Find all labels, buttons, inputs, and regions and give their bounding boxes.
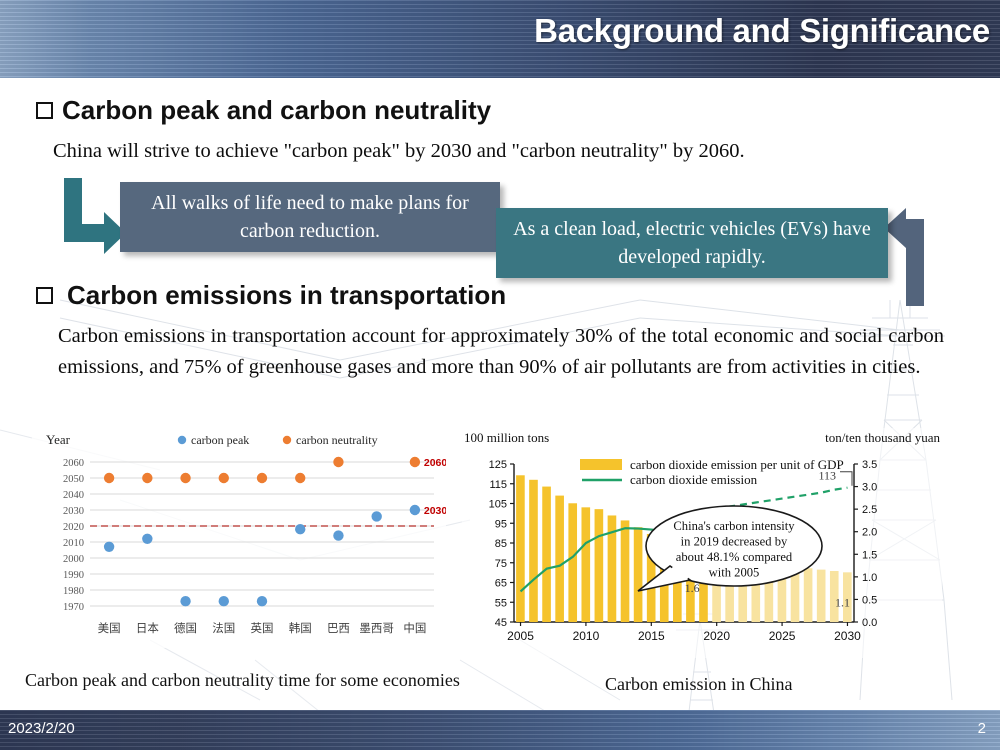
y-tick-label-left: 75 <box>495 558 507 570</box>
down-right-arrow-icon <box>58 178 128 256</box>
x-tick-label: 2020 <box>703 629 730 643</box>
y-tick-label-right: 2.5 <box>862 504 877 516</box>
slide-header: Background and Significance <box>0 0 1000 78</box>
data-point <box>219 596 229 606</box>
section-heading-transportation: Carbon emissions in transportation <box>36 280 506 311</box>
x-tick-label: 2010 <box>573 629 600 643</box>
slide-content: Carbon peak and carbon neutrality China … <box>0 78 1000 710</box>
chart-china-carbon-emission: 100 million tonston/ten thousand yuan455… <box>462 428 942 658</box>
section-heading-label: Carbon peak and carbon neutrality <box>62 95 491 126</box>
callout-line: China's carbon intensity <box>673 519 795 533</box>
data-point <box>219 473 229 483</box>
legend-marker <box>178 436 186 444</box>
page-title: Background and Significance <box>534 12 990 50</box>
y-tick-label: 1980 <box>63 586 84 597</box>
callout-line: with 2005 <box>709 566 760 580</box>
annotation-1-1: 1.1 <box>835 595 850 609</box>
y-tick-label: 2050 <box>63 474 84 485</box>
chart-carbon-peak-neutrality: 1970198019902000201020202030204020502060… <box>32 428 446 648</box>
y-tick-label-right: 3.5 <box>862 459 877 471</box>
square-bullet-icon <box>36 102 53 119</box>
y-tick-label-right: 0.5 <box>862 594 877 606</box>
legend-label: carbon neutrality <box>296 433 378 447</box>
y-tick-label-left: 55 <box>495 597 507 609</box>
callout-right: As a clean load, electric vehicles (EVs)… <box>496 208 888 278</box>
callout-right-text: As a clean load, electric vehicles (EVs)… <box>510 215 874 271</box>
annotation-113: 113 <box>818 469 836 483</box>
y-tick-label-right: 1.0 <box>862 572 877 584</box>
legend-marker <box>283 436 291 444</box>
x-tick-label: 中国 <box>403 622 426 635</box>
section-heading-carbon-peak: Carbon peak and carbon neutrality <box>36 95 491 126</box>
y-tick-label-left: 45 <box>495 617 507 629</box>
x-tick-label: 墨西哥 <box>359 622 394 635</box>
callout-line: in 2019 decreased by <box>681 535 788 549</box>
data-point <box>371 511 381 521</box>
section-paragraph-carbon-peak: China will strive to achieve "carbon pea… <box>53 137 973 166</box>
y-tick-label: 2040 <box>63 490 84 501</box>
data-point <box>142 473 152 483</box>
slide-footer: 2023/2/20 2 <box>0 710 1000 750</box>
x-tick-label: 美国 <box>98 621 121 635</box>
caption-left-chart: Carbon peak and carbon neutrality time f… <box>25 670 460 691</box>
x-tick-label: 2025 <box>769 629 796 643</box>
data-point <box>295 524 305 534</box>
bar-actual <box>555 496 564 622</box>
data-annotation: 2060 <box>424 457 446 469</box>
y-tick-label: 2000 <box>63 554 84 565</box>
y-tick-label: 2020 <box>63 522 84 533</box>
data-point <box>104 542 114 552</box>
data-point <box>333 530 343 540</box>
y-tick-label: 2060 <box>63 458 84 469</box>
y-tick-label-right: 2.0 <box>862 527 877 539</box>
y-tick-label: 1970 <box>63 602 84 613</box>
x-tick-label: 2005 <box>507 629 534 643</box>
y-tick-label-right: 0.0 <box>862 617 877 629</box>
data-annotation: 2030 <box>424 505 446 517</box>
x-tick-label: 2015 <box>638 629 665 643</box>
bar-actual <box>516 475 525 622</box>
bar-actual <box>568 503 577 622</box>
bar-actual <box>529 480 538 622</box>
footer-page-number: 2 <box>978 720 986 737</box>
x-tick-label: 2030 <box>834 629 861 643</box>
bar-actual <box>595 509 604 622</box>
data-point <box>257 473 267 483</box>
caption-right-chart: Carbon emission in China <box>605 674 793 695</box>
section-paragraph-transportation: Carbon emissions in transportation accou… <box>58 321 944 383</box>
annotation-bracket <box>840 472 852 486</box>
bar-actual <box>542 487 551 622</box>
square-bullet-icon <box>36 287 53 304</box>
data-point <box>410 505 420 515</box>
legend-swatch-bar <box>580 459 622 470</box>
x-tick-label: 韩国 <box>289 621 312 635</box>
legend-label-line: carbon dioxide emission <box>630 472 758 487</box>
x-tick-label: 德国 <box>174 621 197 635</box>
y-tick-label: 2030 <box>63 506 84 517</box>
legend-label: carbon peak <box>191 433 249 447</box>
y-tick-label-right: 3.0 <box>862 482 877 494</box>
callout-left-text: All walks of life need to make plans for… <box>134 189 486 245</box>
right-axis-unit-label: ton/ten thousand yuan <box>825 430 940 445</box>
legend-label-bar: carbon dioxide emission per unit of GDP <box>630 457 844 472</box>
up-left-arrow-icon <box>884 208 946 308</box>
y-tick-label-left: 85 <box>495 538 507 550</box>
y-tick-label-left: 125 <box>489 459 507 471</box>
data-point <box>333 457 343 467</box>
bar-projected <box>804 568 813 622</box>
data-point <box>410 457 420 467</box>
callout-left: All walks of life need to make plans for… <box>120 182 500 252</box>
x-tick-label: 日本 <box>136 621 159 635</box>
data-point <box>295 473 305 483</box>
y-tick-label-left: 105 <box>489 499 507 511</box>
bar-projected <box>817 570 826 622</box>
bar-actual <box>621 520 630 622</box>
footer-texture <box>0 710 1000 750</box>
data-point <box>180 473 190 483</box>
y-tick-label: 2010 <box>63 538 84 549</box>
data-point <box>257 596 267 606</box>
callout-line: about 48.1% compared <box>676 550 793 564</box>
data-point <box>180 596 190 606</box>
y-tick-label-right: 1.5 <box>862 549 877 561</box>
y-axis-title: Year <box>46 432 71 447</box>
y-tick-label: 1990 <box>63 570 84 581</box>
x-tick-label: 法国 <box>212 621 235 635</box>
y-tick-label-left: 65 <box>495 578 507 590</box>
bar-actual <box>634 527 643 622</box>
data-point <box>142 534 152 544</box>
x-tick-label: 英国 <box>251 621 274 635</box>
section-heading-label: Carbon emissions in transportation <box>67 280 506 311</box>
y-tick-label-left: 115 <box>489 479 507 491</box>
x-tick-label: 巴西 <box>327 623 350 635</box>
footer-date: 2023/2/20 <box>8 720 75 737</box>
bar-actual <box>581 507 590 622</box>
y-tick-label-left: 95 <box>495 518 507 530</box>
left-axis-unit-label: 100 million tons <box>464 430 549 445</box>
data-point <box>104 473 114 483</box>
